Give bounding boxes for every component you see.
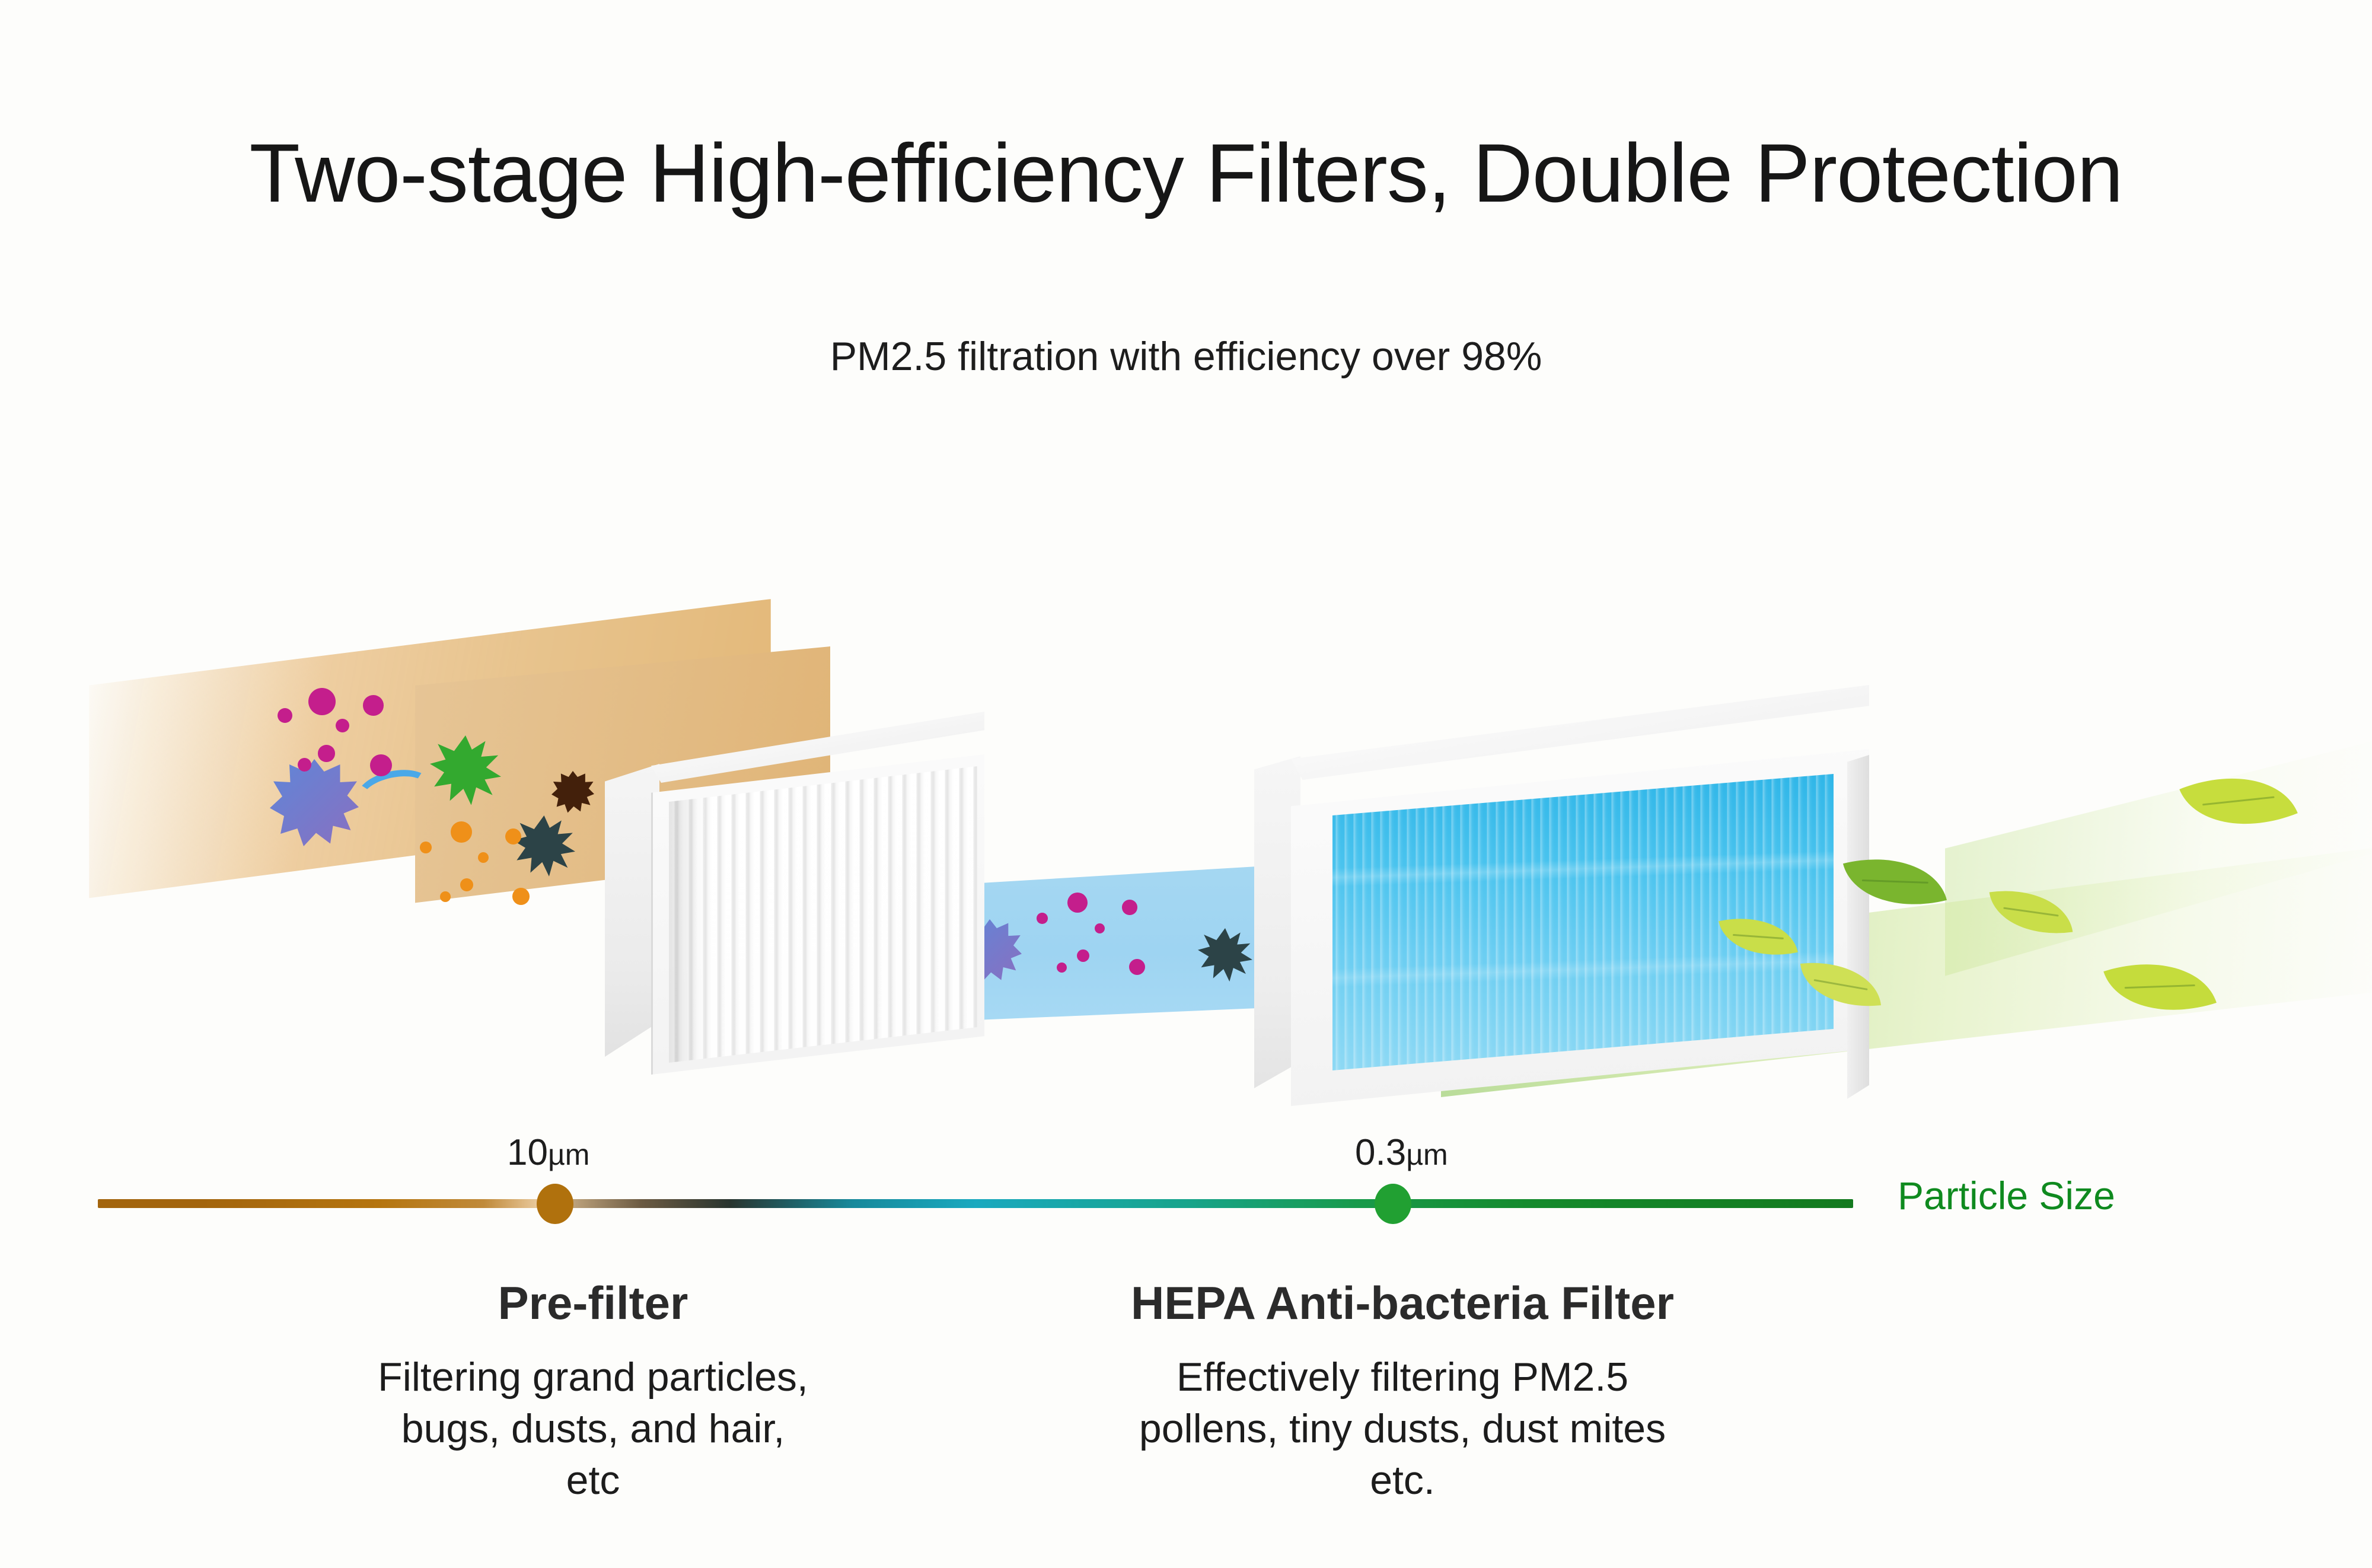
leaf-vein — [2003, 907, 2058, 917]
dust-magenta-cluster-dot — [363, 695, 384, 716]
germ-brown-small — [551, 771, 594, 814]
pre-filter-inner-shadow — [669, 766, 977, 1063]
dust-orange-cluster-dot — [420, 842, 432, 853]
dust-magenta-cluster-dot — [318, 745, 335, 762]
page-subtitle: PM2.5 filtration with efficiency over 98… — [0, 333, 2372, 380]
hepa-filter-caption-body: Effectively filtering PM2.5 pollens, tin… — [1002, 1352, 1803, 1506]
page-title: Two-stage High-efficiency Filters, Doubl… — [0, 129, 2372, 216]
infographic-canvas: Two-stage High-efficiency Filters, Doubl… — [0, 0, 2372, 1568]
dust-magenta-cluster-dot — [1122, 900, 1137, 915]
axis-marker-10um — [537, 1184, 573, 1224]
axis-marker-03um — [1375, 1184, 1411, 1224]
axis-label-10um-value: 10 — [507, 1132, 548, 1173]
dust-orange-cluster-dot — [512, 888, 530, 905]
axis-label-03um-value: 0.3 — [1355, 1132, 1406, 1173]
axis-label-10um: 10µm — [507, 1132, 589, 1174]
pre-filter-caption: Pre-filter Filtering grand particles, bu… — [243, 1276, 943, 1506]
hepa-filter-caption: HEPA Anti-bacteria Filter Effectively fi… — [1002, 1276, 1803, 1506]
pre-filter-caption-line: bugs, dusts, and hair, — [243, 1403, 943, 1455]
axis-label-10um-unit: µm — [548, 1138, 589, 1171]
dust-orange-cluster-dot — [505, 828, 521, 844]
hepa-filter-right-edge — [1847, 755, 1869, 1099]
hepa-filter-caption-line: etc. — [1002, 1455, 1803, 1506]
pre-filter-caption-body: Filtering grand particles, bugs, dusts, … — [243, 1352, 943, 1506]
particle-size-axis — [98, 1199, 1853, 1208]
axis-label-03um: 0.3µm — [1355, 1132, 1448, 1174]
dust-magenta-cluster-dot — [1077, 949, 1089, 962]
hepa-filter-caption-line: pollens, tiny dusts, dust mites — [1002, 1403, 1803, 1455]
pre-filter-caption-line: etc — [243, 1455, 943, 1506]
dust-magenta-cluster-dot — [1095, 923, 1105, 933]
leaf-vein — [1733, 934, 1784, 939]
pre-filter-caption-title: Pre-filter — [243, 1276, 943, 1330]
germ-teal-dark-shape — [513, 815, 575, 878]
germ-purple-star — [270, 759, 359, 848]
pre-filter-unit — [605, 712, 984, 1079]
leaf-vein — [2202, 796, 2275, 806]
dust-magenta-cluster-dot — [1057, 963, 1067, 973]
dust-orange-cluster-dot — [451, 821, 472, 843]
germ-brown-small-shape — [551, 771, 594, 814]
germ-purple-star-shape — [270, 759, 359, 848]
hepa-filter-caption-line: Effectively filtering PM2.5 — [1002, 1352, 1803, 1403]
hepa-filter-unit — [1254, 685, 1868, 1106]
dust-orange-cluster-dot — [440, 891, 451, 902]
dust-magenta-cluster-dot — [370, 754, 392, 776]
pre-filter-caption-line: Filtering grand particles, — [243, 1352, 943, 1403]
dust-magenta-cluster-dot — [1067, 893, 1088, 913]
germ-green-spiky — [430, 735, 501, 807]
dust-orange-cluster-dot — [478, 852, 489, 863]
dust-magenta-cluster-dot — [1037, 913, 1048, 924]
dust-magenta-cluster-dot — [308, 688, 336, 715]
dust-magenta-cluster-dot — [336, 719, 349, 732]
dust-magenta-cluster-dot — [298, 758, 311, 772]
axis-label-03um-unit: µm — [1406, 1138, 1448, 1171]
axis-end-label: Particle Size — [1898, 1173, 2115, 1218]
germ-teal-dark — [513, 815, 575, 878]
hepa-filter-caption-title: HEPA Anti-bacteria Filter — [1002, 1276, 1803, 1330]
leaf-vein — [1862, 879, 1928, 884]
germ-teal-dark — [1198, 928, 1252, 983]
germ-green-spiky-shape — [430, 735, 501, 807]
leaf-vein — [1813, 979, 1867, 990]
leaf-vein — [2125, 984, 2195, 989]
germ-teal-dark-shape — [1198, 928, 1252, 983]
